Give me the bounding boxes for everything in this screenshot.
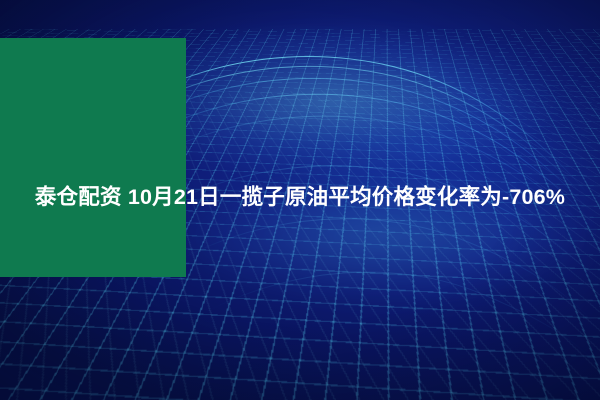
promo-banner-image: 泰仓配资 10月21日一揽子原油平均价格变化率为-706% (0, 0, 600, 400)
headline-text: 泰仓配资 10月21日一揽子原油平均价格变化率为-706% (10, 179, 590, 215)
headline-container: 泰仓配资 10月21日一揽子原油平均价格变化率为-706% (0, 0, 600, 400)
